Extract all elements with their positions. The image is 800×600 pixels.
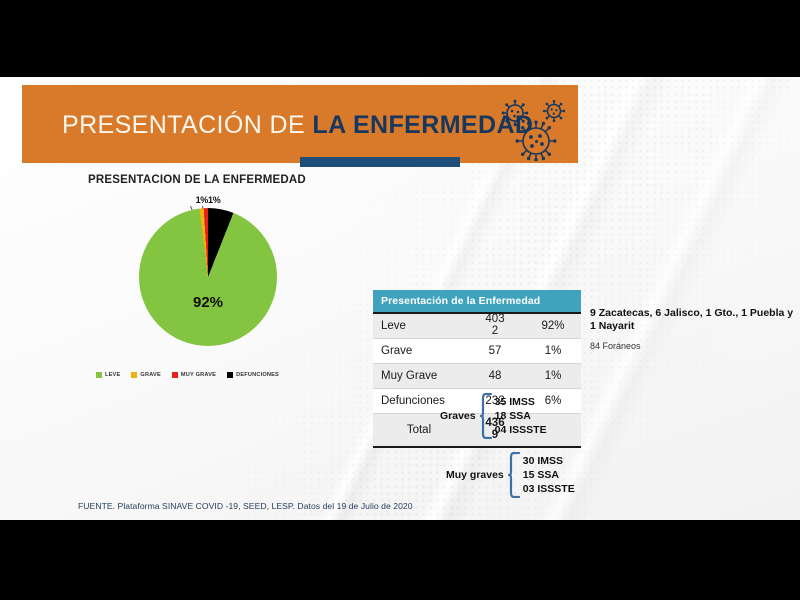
legend-swatch-leve <box>96 372 102 378</box>
table-cell-pct: 92% <box>525 320 581 332</box>
graves-items: 35 IMSS 18 SSA 04 ISSSTE <box>495 395 547 438</box>
table-cell-count: 57 <box>465 345 525 357</box>
legend-item-grave: GRAVE <box>131 372 160 378</box>
source-note: FUENTE. Plataforma SINAVE COVID -19, SEE… <box>78 501 413 511</box>
foraneos-note: 84 Foráneos <box>590 341 641 351</box>
legend-item-leve: LEVE <box>96 372 120 378</box>
pie-small-slice-labels: 1%1% <box>139 195 277 205</box>
table-row: Leve 403 2 92% <box>373 314 581 339</box>
graves-item-2: 04 ISSSTE <box>495 424 547 436</box>
states-breakdown-note: 9 Zacatecas, 6 Jalisco, 1 Gto., 1 Puebla… <box>590 307 795 333</box>
chart-legend: LEVE GRAVE MUY GRAVE DEFUNCIONES <box>96 372 279 378</box>
table-cell-label: Leve <box>373 320 465 332</box>
pie-chart: 92% <box>139 208 277 346</box>
table-cell-label: Muy Grave <box>373 370 465 382</box>
legend-label-leve: LEVE <box>105 372 120 378</box>
table-row: Muy Grave 48 1% <box>373 364 581 389</box>
slide-title: PRESENTACIÓN DE LA ENFERMEDAD <box>62 111 533 140</box>
table-cell-count: 48 <box>465 370 525 382</box>
legend-label-defunciones: DEFUNCIONES <box>236 372 279 378</box>
graves-item-1: 18 SSA <box>495 410 531 422</box>
header-accent-underline <box>300 157 460 167</box>
table-cell-count-line1: 403 <box>485 313 504 325</box>
table-cell-label: Grave <box>373 345 465 357</box>
legend-label-grave: GRAVE <box>140 372 160 378</box>
table-cell-count-line2: 2 <box>492 325 498 337</box>
presentation-slide: PRESENTACIÓN DE LA ENFERMEDAD <box>0 77 800 520</box>
table-cell-pct: 1% <box>525 370 581 382</box>
muy-graves-breakdown: Muy graves 30 IMSS 15 SSA 03 ISSSTE <box>446 452 575 498</box>
muy-graves-item-1: 15 SSA <box>523 469 559 481</box>
pie-label-leve: 92% <box>139 294 277 311</box>
table-row: Grave 57 1% <box>373 339 581 364</box>
screenshot-viewport: PRESENTACIÓN DE LA ENFERMEDAD <box>0 0 800 600</box>
legend-swatch-defunciones <box>227 372 233 378</box>
muy-graves-item-2: 03 ISSSTE <box>523 483 575 495</box>
pie-chart-slices <box>139 208 277 346</box>
slide-title-regular: PRESENTACIÓN DE <box>62 111 312 139</box>
legend-item-muy-grave: MUY GRAVE <box>172 372 216 378</box>
table-header: Presentación de la Enfermedad <box>373 290 581 314</box>
graves-label: Graves <box>440 410 476 422</box>
graves-breakdown: Graves 35 IMSS 18 SSA 04 ISSSTE <box>440 393 547 439</box>
slide-header-bar: PRESENTACIÓN DE LA ENFERMEDAD <box>22 85 578 163</box>
brace-icon <box>480 393 492 439</box>
coronavirus-icon <box>498 99 574 161</box>
legend-label-muy-grave: MUY GRAVE <box>181 372 216 378</box>
graves-item-0: 35 IMSS <box>495 396 535 408</box>
brace-icon <box>508 452 520 498</box>
legend-item-defunciones: DEFUNCIONES <box>227 372 279 378</box>
table-cell-count: 403 2 <box>465 314 525 337</box>
muy-graves-items: 30 IMSS 15 SSA 03 ISSSTE <box>523 454 575 497</box>
muy-graves-item-0: 30 IMSS <box>523 455 563 467</box>
muy-graves-label: Muy graves <box>446 469 504 481</box>
legend-swatch-grave <box>131 372 137 378</box>
legend-swatch-muy-grave <box>172 372 178 378</box>
table-cell-pct: 1% <box>525 345 581 357</box>
chart-title: PRESENTACION DE LA ENFERMEDAD <box>88 174 306 186</box>
